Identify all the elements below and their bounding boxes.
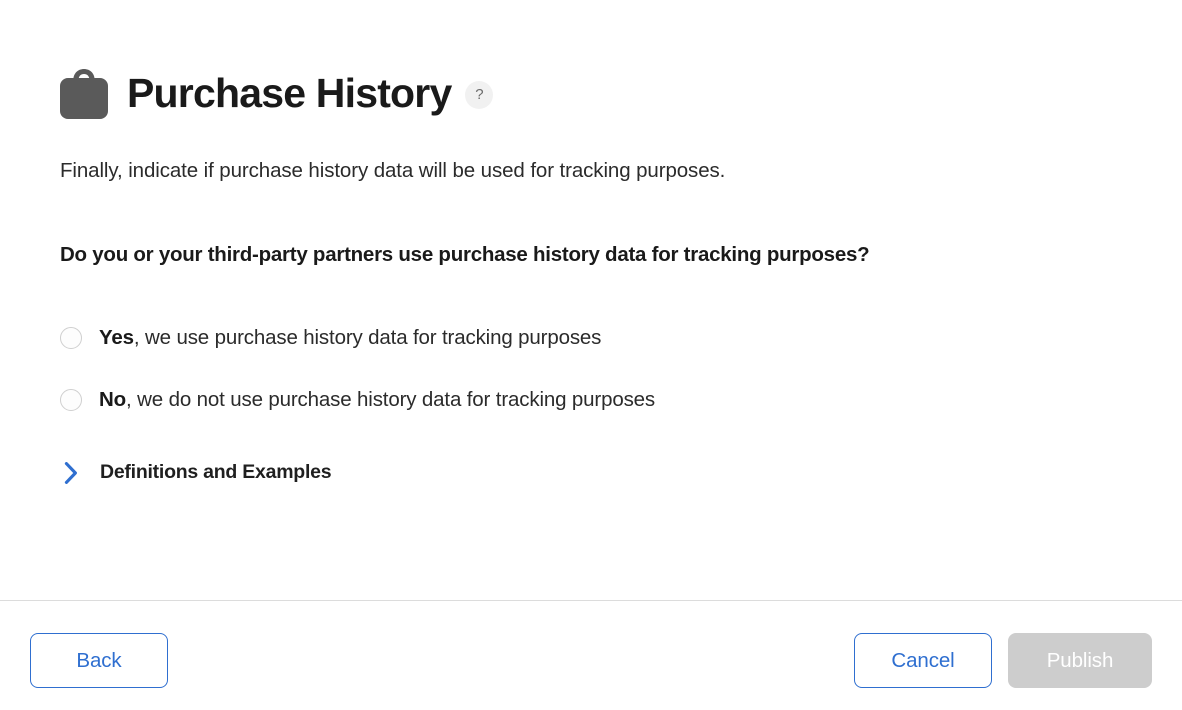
radio-option-no-emphasis: No: [99, 388, 126, 411]
radio-option-yes-text: , we use purchase history data for track…: [134, 326, 601, 349]
disclosure-label: Definitions and Examples: [100, 461, 331, 484]
back-button[interactable]: Back: [30, 633, 168, 688]
question-label: Do you or your third-party partners use …: [60, 243, 869, 267]
footer-bar: Back Cancel Publish: [0, 601, 1182, 710]
radio-option-yes-label: Yes, we use purchase history data for tr…: [99, 326, 601, 350]
radio-option-no[interactable]: No, we do not use purchase history data …: [60, 388, 655, 412]
cancel-button[interactable]: Cancel: [854, 633, 992, 688]
intro-text: Finally, indicate if purchase history da…: [60, 159, 725, 183]
chevron-right-icon: [64, 462, 78, 484]
page-title: Purchase History: [127, 73, 451, 114]
radio-option-yes-emphasis: Yes: [99, 326, 134, 349]
radio-option-no-text: , we do not use purchase history data fo…: [126, 388, 655, 411]
publish-button[interactable]: Publish: [1008, 633, 1152, 688]
definitions-and-examples-disclosure[interactable]: Definitions and Examples: [60, 461, 331, 484]
radio-button-yes[interactable]: [60, 327, 82, 349]
page-header: Purchase History ?: [60, 64, 493, 122]
radio-option-yes[interactable]: Yes, we use purchase history data for tr…: [60, 326, 601, 350]
radio-option-no-label: No, we do not use purchase history data …: [99, 388, 655, 412]
help-icon[interactable]: ?: [465, 81, 493, 109]
purchase-history-form-panel: Purchase History ? Finally, indicate if …: [0, 0, 1182, 601]
shopping-bag-icon: [60, 67, 108, 119]
radio-button-no[interactable]: [60, 389, 82, 411]
